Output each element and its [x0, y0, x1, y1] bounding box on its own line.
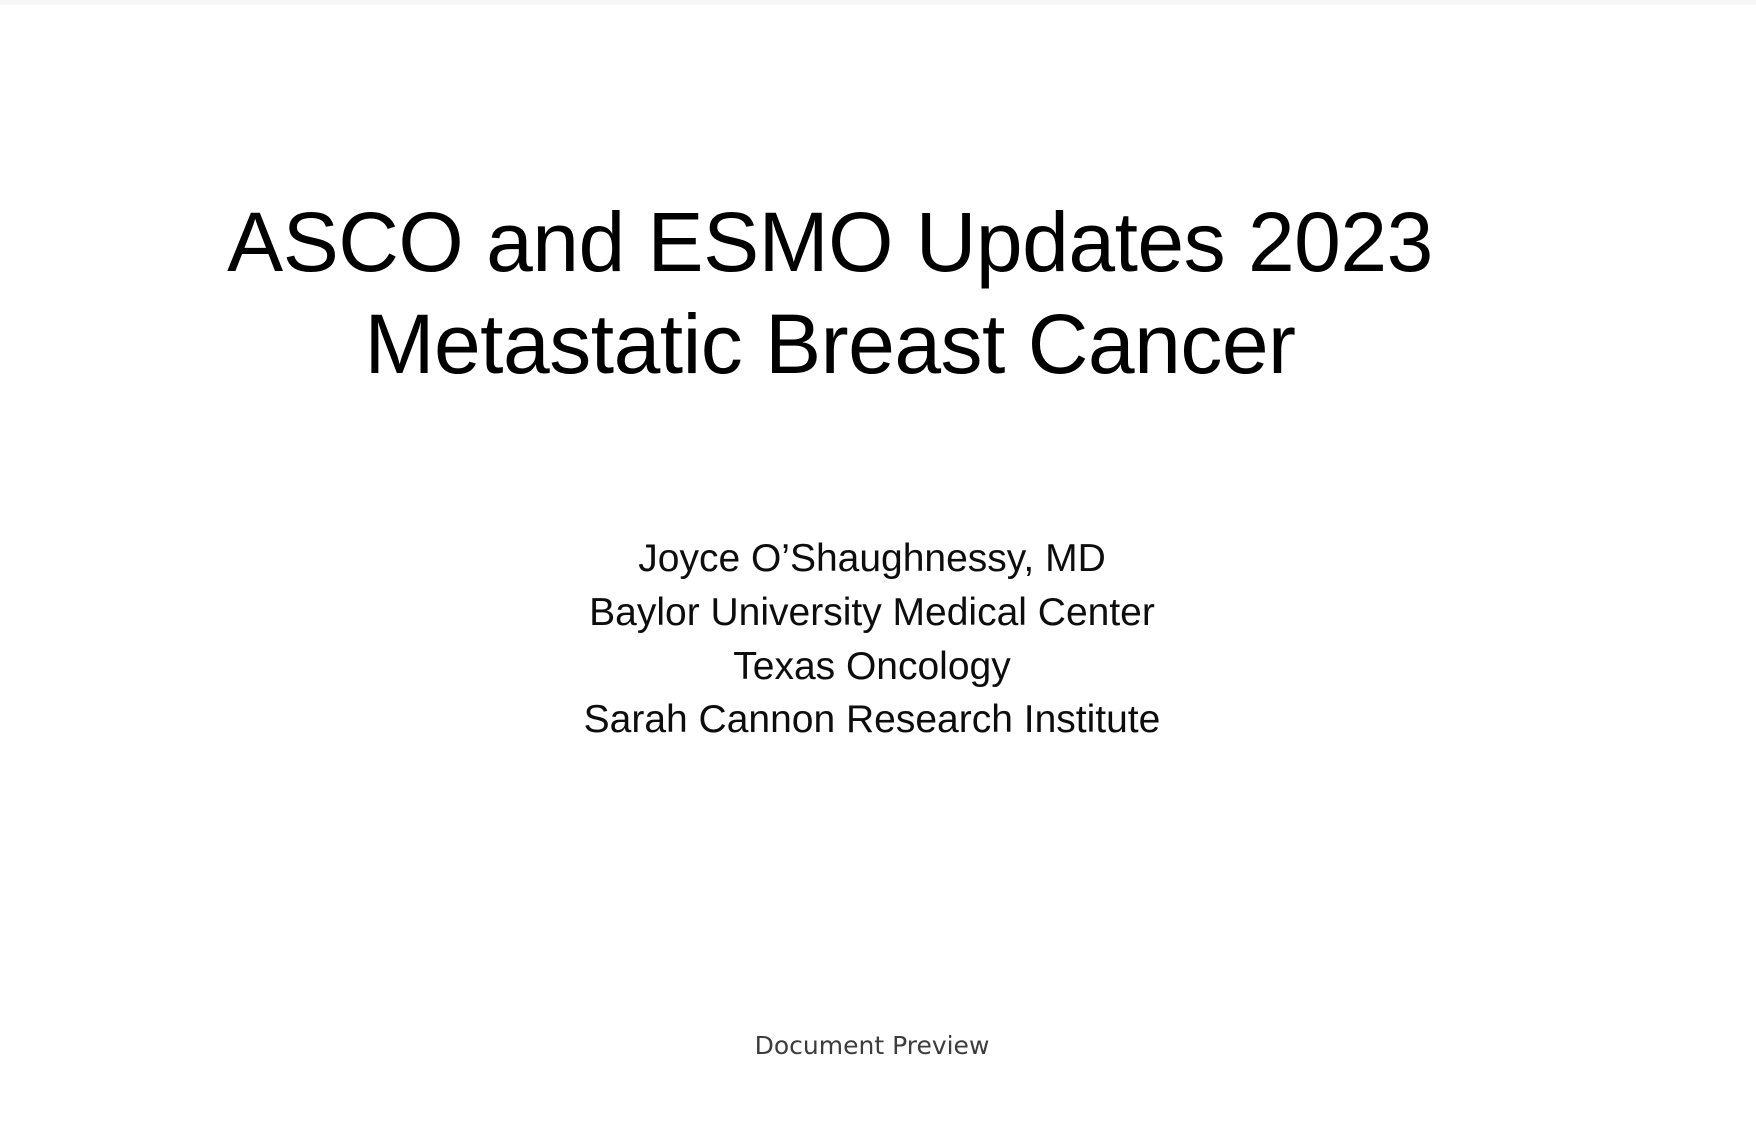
document-preview-caption: Document Preview	[0, 1031, 1744, 1061]
affiliation-research-institute: Sarah Cannon Research Institute	[0, 693, 1744, 747]
slide-title-line-1: ASCO and ESMO Updates 2023	[0, 191, 1660, 293]
affiliation-institution: Baylor University Medical Center	[0, 586, 1744, 640]
slide-canvas: ASCO and ESMO Updates 2023 Metastatic Br…	[0, 5, 1756, 1132]
slide-title-line-2: Metastatic Breast Cancer	[0, 293, 1660, 395]
affiliation-practice: Texas Oncology	[0, 640, 1744, 694]
slide-title: ASCO and ESMO Updates 2023 Metastatic Br…	[0, 191, 1660, 396]
author-affiliation-block: Joyce O’Shaughnessy, MD Baylor Universit…	[0, 532, 1744, 747]
author-name: Joyce O’Shaughnessy, MD	[0, 532, 1744, 586]
